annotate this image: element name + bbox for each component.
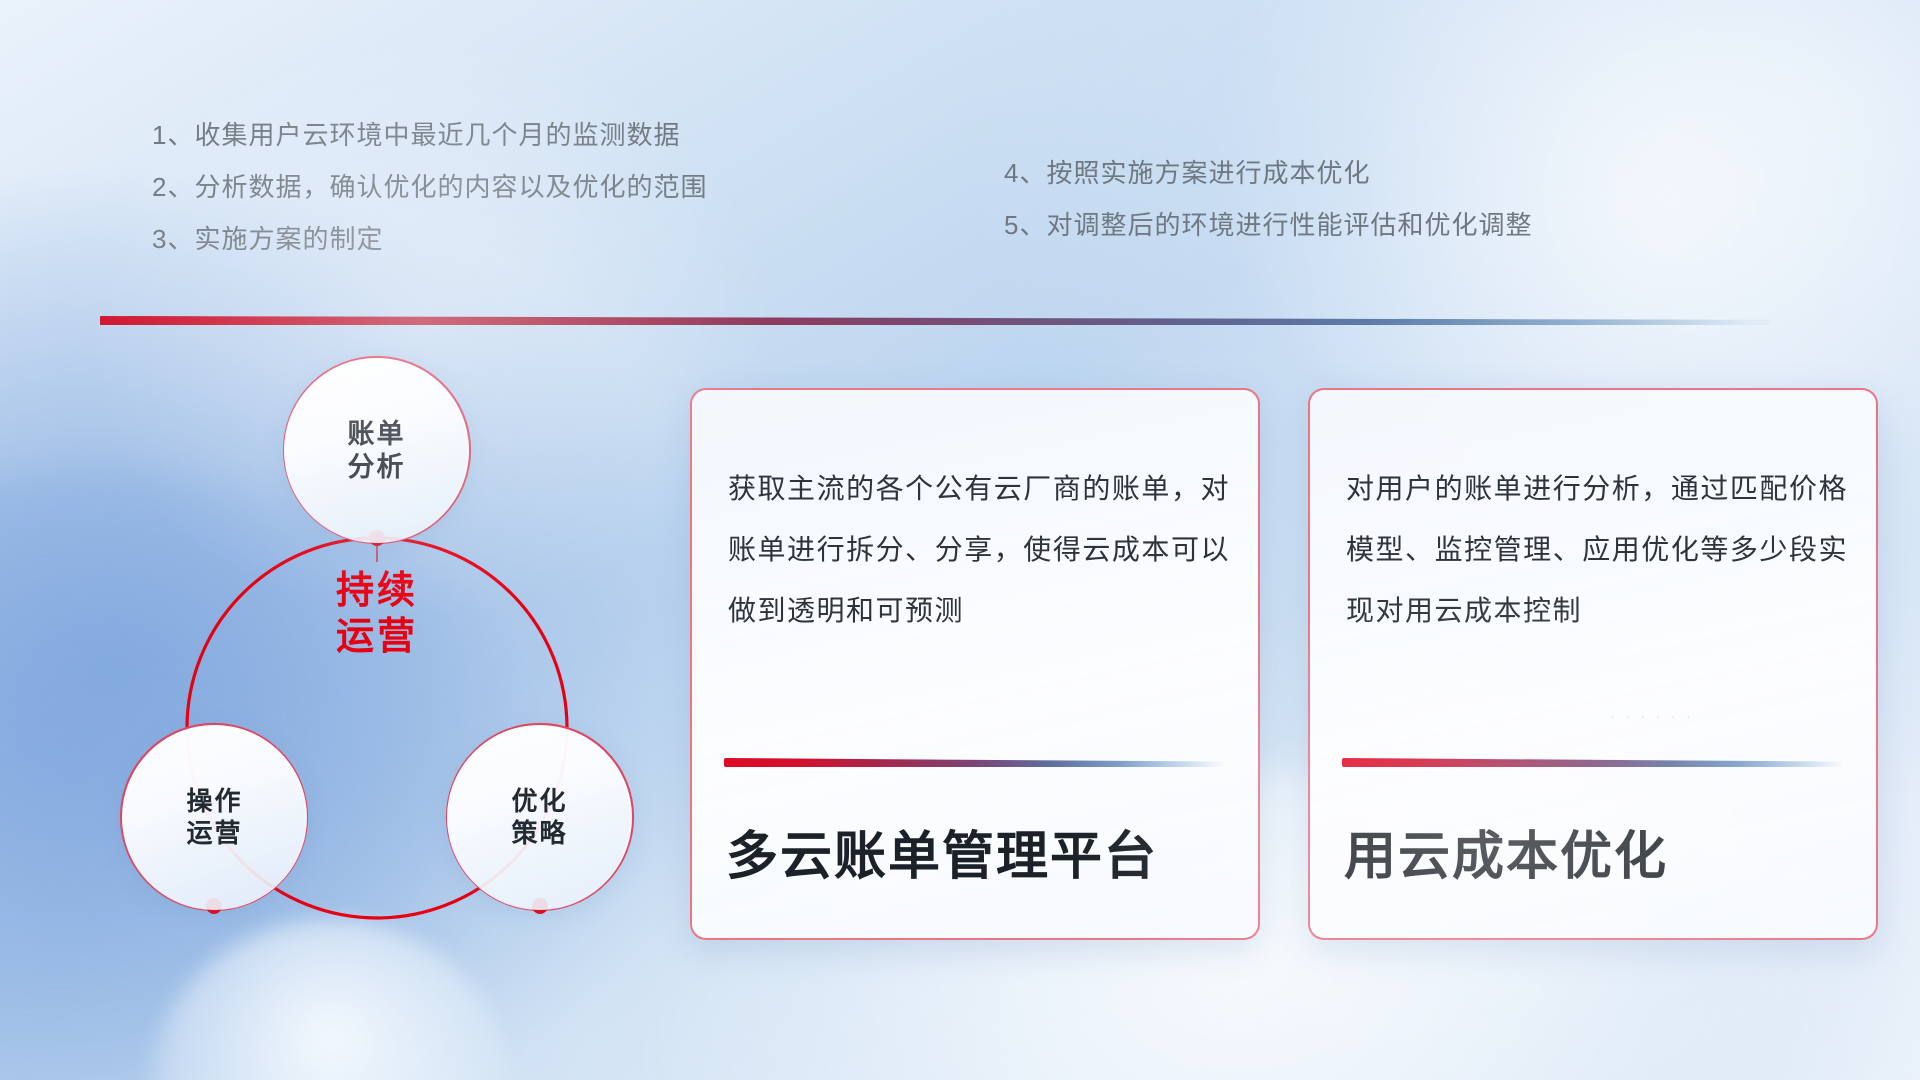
venn-center-line2: 运营: [299, 614, 455, 660]
step-item-4: 4、按照实施方案进行成本优化: [1004, 160, 1532, 186]
venn-bubble-billing-analysis[interactable]: 账单 分析: [284, 358, 469, 543]
card-body-text: 对用户的账单进行分析，通过匹配价格模型、监控管理、应用优化等多少段实现对用云成本…: [1346, 458, 1848, 641]
card-body-text: 获取主流的各个公有云厂商的账单，对账单进行拆分、分享，使得云成本可以做到透明和可…: [728, 458, 1230, 641]
card-ghost-dots: · · · · · ·: [1610, 708, 1694, 725]
card-title: 用云成本优化: [1344, 814, 1668, 889]
venn-bubble-line1: 操作: [186, 786, 242, 818]
venn-center-label: 持续 运营: [299, 568, 455, 661]
steps-right-column: 4、按照实施方案进行成本优化 5、对调整后的环境进行性能评估和优化调整: [1004, 160, 1532, 238]
card-accent-rule: [1342, 758, 1842, 767]
step-item-2: 2、分析数据，确认优化的内容以及优化的范围: [152, 174, 707, 200]
venn-bubble-line1: 账单: [348, 418, 406, 451]
venn-bubble-line2: 运营: [186, 818, 242, 850]
venn-bubble-line2: 分析: [348, 451, 406, 484]
step-item-3: 3、实施方案的制定: [152, 226, 707, 252]
step-item-5: 5、对调整后的环境进行性能评估和优化调整: [1004, 212, 1532, 238]
venn-bubble-optimization-strategy[interactable]: 优化 策略: [447, 725, 632, 910]
venn-bubble-operations[interactable]: 操作 运营: [122, 725, 307, 910]
venn-diagram: 账单 分析 操作 运营 优化 策略 持续 运营: [100, 350, 660, 950]
step-item-1: 1、收集用户云环境中最近几个月的监测数据: [152, 122, 707, 148]
feature-card-cloud-cost-optimization[interactable]: 对用户的账单进行分析，通过匹配价格模型、监控管理、应用优化等多少段实现对用云成本…: [1308, 388, 1878, 940]
card-accent-rule: [724, 758, 1224, 767]
slide-canvas: 1、收集用户云环境中最近几个月的监测数据 2、分析数据，确认优化的内容以及优化的…: [0, 0, 1920, 1080]
venn-bubble-line1: 优化: [511, 786, 567, 818]
steps-left-column: 1、收集用户云环境中最近几个月的监测数据 2、分析数据，确认优化的内容以及优化的…: [152, 122, 707, 252]
card-title: 多云账单管理平台: [726, 814, 1158, 889]
section-divider: [100, 316, 1770, 325]
feature-card-multicloud-billing[interactable]: 获取主流的各个公有云厂商的账单，对账单进行拆分、分享，使得云成本可以做到透明和可…: [690, 388, 1260, 940]
venn-bubble-line2: 策略: [511, 818, 567, 850]
venn-center-line1: 持续: [299, 568, 455, 614]
